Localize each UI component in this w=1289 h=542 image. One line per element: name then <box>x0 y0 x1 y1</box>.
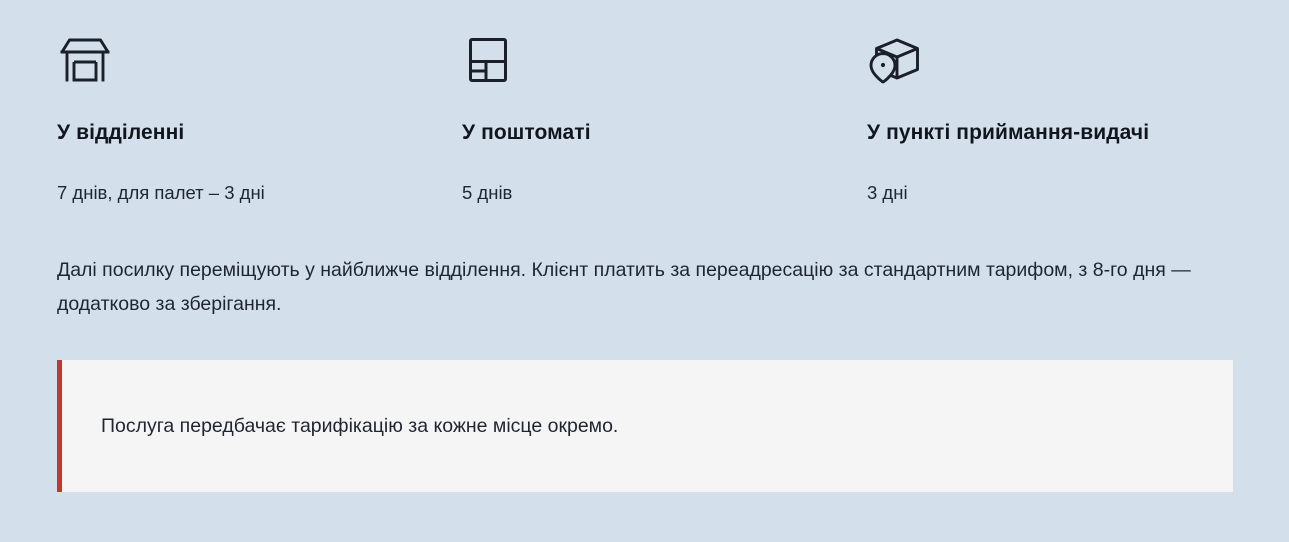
parcel-pickup-point-icon <box>867 36 1237 90</box>
info-panel: У відділенні 7 днів, для палет – 3 дні У… <box>0 0 1289 542</box>
storage-terms-columns: У відділенні 7 днів, для палет – 3 дні У… <box>57 36 1237 205</box>
redirection-note-paragraph: Далі посилку переміщують у найближче від… <box>57 253 1237 321</box>
storage-term-value: 3 дні <box>867 181 1237 205</box>
storage-term-title: У пункті приймання-видачі <box>867 120 1237 146</box>
storage-term-column-branch: У відділенні 7 днів, для палет – 3 дні <box>57 36 462 205</box>
storage-term-title: У поштоматі <box>462 120 867 146</box>
storage-term-value: 7 днів, для палет – 3 дні <box>57 181 462 205</box>
storage-term-value: 5 днів <box>462 181 867 205</box>
storage-term-title: У відділенні <box>57 120 462 146</box>
storage-term-column-pickup-point: У пункті приймання-видачі 3 дні <box>867 36 1237 205</box>
tariff-callout-text: Послуга передбачає тарифікацію за кожне … <box>62 412 618 440</box>
tariff-callout: Послуга передбачає тарифікацію за кожне … <box>57 360 1233 492</box>
parcel-locker-icon <box>462 36 867 90</box>
storefront-icon <box>57 36 462 90</box>
storage-term-column-locker: У поштоматі 5 днів <box>462 36 867 205</box>
